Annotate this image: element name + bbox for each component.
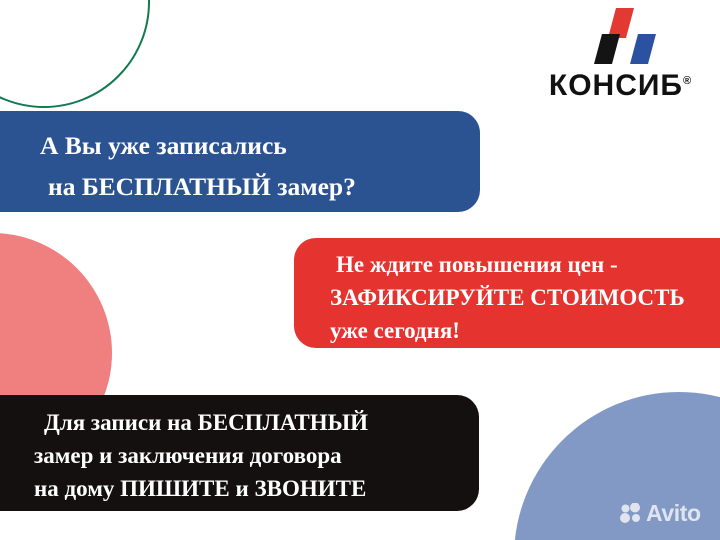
banner-red-line-1: Не ждите повышения цен -	[330, 248, 720, 281]
avito-dots-icon	[620, 503, 642, 523]
banner-black-line-1: Для записи на БЕСПЛАТНЫЙ	[34, 406, 479, 439]
banner-black-line-3: на дому ПИШИТЕ и ЗВОНИТЕ	[34, 472, 479, 505]
banner-red-price-lock: Не ждите повышения цен - ЗАФИКСИРУЙТЕ СТ…	[294, 238, 720, 348]
banner-blue-line-2: на БЕСПЛАТНЫЙ замер?	[40, 166, 480, 207]
banner-black-contact-call-to-action: Для записи на БЕСПЛАТНЫЙ замер и заключе…	[0, 395, 479, 511]
brand-wordmark: КОНСИБ®	[530, 64, 710, 103]
green-ring-decoration	[0, 0, 150, 108]
brand-name-text: КОНСИБ	[549, 69, 683, 102]
banner-black-line-2: замер и заключения договора	[34, 439, 479, 472]
banner-red-line-3: уже сегодня!	[330, 314, 720, 347]
banner-blue-line-1: А Вы уже записались	[40, 125, 480, 166]
konsib-logo-mark-icon	[586, 8, 662, 64]
brand-logo: КОНСИБ®	[530, 8, 710, 104]
avito-watermark-label: Avito	[646, 502, 701, 525]
avito-watermark: Avito	[620, 500, 701, 526]
registered-trademark-symbol: ®	[683, 75, 691, 87]
banner-blue-free-measurement: А Вы уже записались на БЕСПЛАТНЫЙ замер?	[0, 111, 480, 212]
advertisement-canvas: КОНСИБ® А Вы уже записались на БЕСПЛАТНЫ…	[0, 0, 720, 540]
banner-red-line-2: ЗАФИКСИРУЙТЕ СТОИМОСТЬ	[330, 281, 720, 314]
